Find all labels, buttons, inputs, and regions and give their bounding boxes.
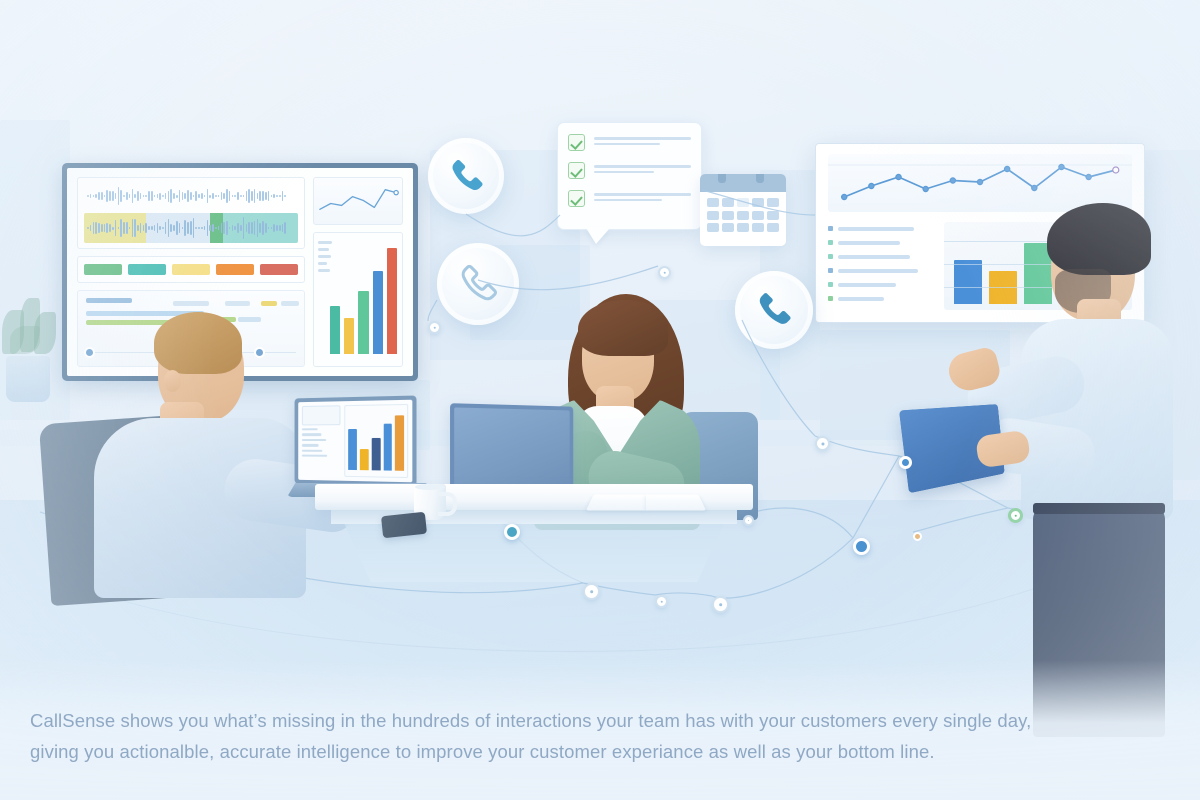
waveform-bar — [179, 190, 181, 203]
waveform-bar — [248, 222, 250, 235]
waveform-bar — [193, 195, 195, 198]
segment-tag[interactable] — [84, 264, 122, 275]
waveform-bar — [140, 223, 142, 232]
dashboard-row — [302, 455, 327, 458]
waveform-bar — [195, 191, 197, 202]
waveform-bar — [243, 195, 245, 197]
waveform-bar — [195, 227, 197, 230]
waveform-bar — [137, 225, 139, 231]
check-icon[interactable] — [568, 134, 585, 151]
bullet-marker — [828, 240, 833, 245]
waveform-bar — [268, 227, 270, 229]
hair-front — [578, 300, 668, 356]
dashboard-row — [302, 434, 322, 436]
waveform-bar — [137, 191, 139, 200]
bar — [372, 438, 381, 470]
node-bubble-link[interactable] — [658, 266, 671, 279]
waveform-bar — [162, 227, 164, 229]
waveform-bar — [232, 195, 234, 197]
timeline-node[interactable] — [84, 347, 95, 358]
waveform-bar — [93, 195, 95, 197]
waveform-bar — [276, 195, 278, 198]
waveform-bar — [123, 195, 125, 197]
waveform-bar — [276, 225, 278, 231]
data-point — [842, 194, 847, 199]
waveform-track-segmented — [84, 213, 298, 243]
calendar-day[interactable] — [707, 198, 719, 207]
waveform-bar — [165, 193, 167, 200]
waveform-bar — [215, 195, 217, 197]
waveform-bar — [259, 223, 261, 232]
waveform-bar — [209, 225, 211, 232]
waveform-bar — [176, 195, 178, 198]
calendar-day[interactable] — [722, 223, 734, 232]
waveform-bar — [229, 227, 231, 230]
calendar-day[interactable] — [752, 198, 764, 207]
waveform-bar — [243, 217, 245, 240]
data-point — [950, 178, 955, 183]
waveform-bar — [145, 223, 147, 233]
bar — [383, 423, 392, 470]
waveform-bar — [112, 227, 114, 230]
waveform-bar — [95, 194, 97, 198]
data-point — [977, 179, 982, 184]
list-item — [828, 296, 932, 301]
waveform-bar — [87, 227, 89, 229]
waveform-bar — [134, 219, 136, 238]
waveform-bar — [187, 222, 189, 234]
list-item — [828, 268, 932, 273]
open-notebook[interactable] — [586, 495, 706, 511]
checklist-item-text — [594, 165, 691, 176]
laptop-left-lid — [295, 395, 417, 486]
calendar-day[interactable] — [737, 223, 749, 232]
waveform-bar — [201, 193, 203, 198]
node-mid-right[interactable] — [815, 436, 830, 451]
waveform-bar — [265, 192, 267, 199]
chart-legend — [318, 241, 332, 276]
waveform-bar — [237, 223, 239, 233]
waveform-bar — [268, 191, 270, 201]
waveform-bar — [106, 190, 108, 201]
waveform-bar — [265, 223, 267, 233]
segment-tag[interactable] — [128, 264, 166, 275]
waveform-bar — [223, 193, 225, 199]
waveform-bar — [90, 225, 92, 232]
waveform-bar — [271, 227, 273, 229]
hair — [1047, 203, 1151, 275]
waveform-bar — [140, 193, 142, 198]
waveform-bar — [218, 226, 220, 230]
waveform-bar — [223, 222, 225, 234]
waveform-bar — [95, 222, 97, 234]
waveform-bar — [173, 193, 175, 199]
waveform-bar — [259, 191, 261, 200]
check-icon[interactable] — [568, 190, 585, 207]
waveform-bar — [282, 191, 284, 200]
waveform-bar — [176, 221, 178, 235]
waveform-bar — [190, 221, 192, 235]
waveform-bar — [246, 224, 248, 231]
dashboard-row — [302, 449, 323, 451]
calendar-day[interactable] — [767, 198, 779, 207]
waveform-bar — [134, 194, 136, 197]
waveform-bar — [157, 223, 159, 232]
list-item-text — [838, 283, 896, 287]
waveform-bar — [207, 220, 209, 236]
waveform-bar — [229, 191, 231, 202]
calendar-day[interactable] — [707, 211, 719, 220]
waveform-bar — [101, 224, 103, 233]
checklist-item-text — [594, 137, 691, 148]
waveform-bar — [262, 191, 264, 201]
waveform-bar — [165, 222, 167, 234]
list-item — [828, 226, 932, 231]
node-blue-lower[interactable] — [853, 538, 870, 555]
list-item — [828, 240, 932, 245]
list-item-text — [838, 255, 910, 259]
phone-icon-filled-right[interactable] — [735, 271, 813, 349]
waveform-bar — [248, 189, 250, 202]
waveform-bar — [170, 224, 172, 232]
waveform-bar — [159, 226, 161, 230]
segment-tag-row — [77, 256, 305, 283]
list-item — [828, 282, 932, 287]
waveform-bar — [168, 191, 170, 202]
waveform-bar — [284, 195, 286, 197]
waveform-bar — [120, 219, 122, 236]
calendar-day[interactable] — [752, 223, 764, 232]
data-point — [1086, 174, 1091, 179]
waveform-bar — [129, 194, 131, 199]
waveform-bar — [120, 190, 122, 203]
waveform-bar — [240, 195, 242, 197]
waveform-bar — [184, 193, 186, 198]
checklist-item[interactable] — [568, 190, 691, 207]
waveform-bar — [251, 191, 253, 201]
waveform-bar — [198, 194, 200, 198]
data-point — [1059, 164, 1064, 169]
phone-icon-filled-top[interactable] — [428, 138, 504, 214]
waveform-bar — [151, 191, 153, 202]
waveform-bar — [284, 222, 286, 234]
waveform-bar — [151, 226, 153, 230]
bullet-marker — [828, 296, 833, 301]
data-point — [923, 186, 928, 191]
bar — [360, 449, 369, 470]
waveform-bar — [93, 222, 95, 233]
waveform-bar — [226, 189, 228, 202]
presentation-bullet-list — [828, 222, 932, 310]
waveform-bar — [126, 192, 128, 200]
node-desk-left[interactable] — [428, 321, 441, 334]
trousers — [1033, 507, 1165, 737]
waveform-bar — [273, 224, 275, 233]
bullet-marker — [828, 282, 833, 287]
list-item-text — [838, 227, 914, 231]
data-point — [869, 183, 874, 188]
belt — [1033, 503, 1165, 514]
waveform-bar — [154, 225, 156, 230]
illustration-scene: CallSense shows you what’s missing in th… — [0, 0, 1200, 800]
node-right-filled[interactable] — [899, 456, 912, 469]
calendar-day[interactable] — [737, 198, 749, 207]
waveform-bar — [123, 222, 125, 235]
waveform-bar — [207, 189, 209, 204]
waveform-track-raw — [84, 183, 298, 209]
calendar-day[interactable] — [767, 223, 779, 232]
data-point — [1005, 166, 1010, 171]
waveform-bar — [173, 225, 175, 232]
waveform-bar — [162, 195, 164, 197]
checklist-item-text — [594, 193, 691, 204]
waveform-bar — [182, 192, 184, 200]
waveform-bar — [157, 194, 159, 199]
waveform-bar — [237, 192, 239, 200]
waveform-bar — [234, 195, 236, 198]
waveform-bar — [168, 219, 170, 237]
waveform-bar — [190, 192, 192, 200]
waveform-bar — [271, 195, 273, 197]
waveform-bar — [154, 195, 156, 197]
waveform-bar — [262, 221, 264, 235]
node-teal-desk[interactable] — [504, 524, 520, 540]
waveform-bar — [226, 221, 228, 234]
waveform-bar — [187, 190, 189, 203]
waveform-bar — [246, 191, 248, 201]
waveform-bar — [159, 193, 161, 200]
calendar-day[interactable] — [737, 211, 749, 220]
waveform-bar — [90, 194, 92, 198]
bar — [373, 271, 383, 354]
phone-icon-outline[interactable] — [437, 243, 519, 325]
calendar-day[interactable] — [722, 198, 734, 207]
dashboard-row — [302, 444, 319, 446]
calendar-header — [700, 174, 786, 192]
waveform-bar — [129, 227, 131, 229]
waveform-bar — [184, 220, 186, 235]
waveform-bar — [204, 195, 206, 197]
waveform-bar — [143, 195, 145, 197]
waveform-bar — [87, 195, 89, 197]
caption-line-2: giving you actionalble, accurate intelli… — [30, 736, 1170, 767]
list-item-text — [838, 241, 900, 245]
node-desk-edge[interactable] — [743, 515, 754, 526]
bar — [395, 416, 404, 471]
monitor-trend-chart — [313, 177, 403, 225]
waveform-bar — [209, 195, 211, 198]
waveform-bar — [221, 223, 223, 233]
calendar-day[interactable] — [707, 223, 719, 232]
laptop-left-screen — [298, 400, 412, 483]
waveform-bar — [132, 219, 134, 237]
bullet-marker — [828, 226, 833, 231]
waveform-bar — [143, 225, 145, 231]
waveform-bar — [198, 227, 200, 229]
ear — [164, 370, 181, 392]
waveform-bar — [240, 225, 242, 231]
waveform-bar — [104, 195, 106, 197]
list-item-text — [838, 297, 884, 301]
waveform-bar — [212, 193, 214, 200]
bar — [349, 429, 357, 471]
potted-plant — [6, 356, 50, 402]
bullet-marker — [828, 254, 833, 259]
node-amber[interactable] — [913, 532, 922, 541]
calendar-grid — [700, 192, 786, 238]
waveform-bar — [145, 195, 147, 197]
quality-checklist-bubble[interactable] — [557, 122, 702, 230]
waveform-bar — [109, 191, 111, 202]
waveform-bar — [273, 194, 275, 198]
node-hollow-lower-left[interactable] — [583, 583, 600, 600]
data-point — [1113, 167, 1119, 173]
waveform-bar — [109, 224, 111, 233]
segment-tag[interactable] — [216, 264, 254, 275]
person-standing-man — [955, 195, 1185, 595]
data-point — [896, 174, 901, 179]
waveform-bar — [201, 227, 203, 229]
waveform-bar — [212, 224, 214, 231]
waveform-bar — [193, 218, 195, 238]
checklist-item[interactable] — [568, 162, 691, 179]
node-hollow-lower-right[interactable] — [712, 596, 729, 613]
waveform-bar — [118, 227, 120, 229]
waveform-bar — [257, 219, 259, 238]
waveform-bar — [251, 222, 253, 234]
smartphone[interactable] — [381, 512, 427, 538]
calendar-day[interactable] — [722, 211, 734, 220]
node-green-right[interactable] — [1008, 508, 1023, 523]
check-icon[interactable] — [568, 162, 585, 179]
waveform-bar — [115, 193, 117, 200]
segment-tag[interactable] — [172, 264, 210, 275]
waveform-bar — [126, 222, 128, 234]
waveform-bar — [232, 225, 234, 231]
waveform-bar — [254, 221, 256, 236]
list-item — [828, 254, 932, 259]
caption: CallSense shows you what’s missing in th… — [30, 705, 1170, 767]
dashboard-row — [302, 439, 326, 441]
bar — [387, 248, 397, 354]
waveform-bar — [179, 223, 181, 233]
waveform-bar — [182, 227, 184, 230]
waveform-bar — [148, 191, 150, 201]
waveform-bar — [104, 224, 106, 232]
waveform-bar — [221, 192, 223, 199]
waveform-bar — [98, 223, 100, 234]
calendar-day[interactable] — [752, 211, 764, 220]
dashboard-row — [302, 428, 317, 430]
torso-shirt — [1021, 319, 1173, 519]
list-item-text — [838, 269, 918, 273]
waveform-bar — [215, 227, 217, 229]
waveform-bar — [132, 189, 134, 203]
waveform-bar — [148, 226, 150, 230]
bullet-marker — [828, 268, 833, 273]
waveform-bar — [254, 189, 256, 204]
waveform-bar — [115, 220, 117, 236]
waveform-panel — [77, 177, 305, 249]
waveform-bar — [106, 223, 108, 232]
waveform-bar — [257, 193, 259, 199]
calendar-day[interactable] — [767, 211, 779, 220]
node-hollow-lower-mid[interactable] — [655, 595, 668, 608]
waveform-bar — [204, 226, 206, 229]
data-point — [1032, 185, 1037, 190]
waveform-bar — [234, 226, 236, 230]
waveform-bar — [170, 189, 172, 204]
calendar-icon[interactable] — [700, 174, 786, 246]
checklist-item[interactable] — [568, 134, 691, 151]
hair — [154, 312, 242, 374]
waveform-bar — [279, 195, 281, 198]
waveform-bar — [118, 187, 120, 205]
waveform-bar — [101, 192, 103, 200]
caption-line-1: CallSense shows you what’s missing in th… — [30, 705, 1170, 736]
waveform-bar — [112, 191, 114, 200]
laptop-center-screen — [454, 407, 570, 494]
bar — [358, 291, 368, 354]
waveform-bar — [279, 225, 281, 232]
segment-tag[interactable] — [260, 264, 298, 275]
waveform-bar — [98, 192, 100, 200]
waveform-bar — [218, 195, 220, 197]
waveform-bar — [282, 224, 284, 232]
